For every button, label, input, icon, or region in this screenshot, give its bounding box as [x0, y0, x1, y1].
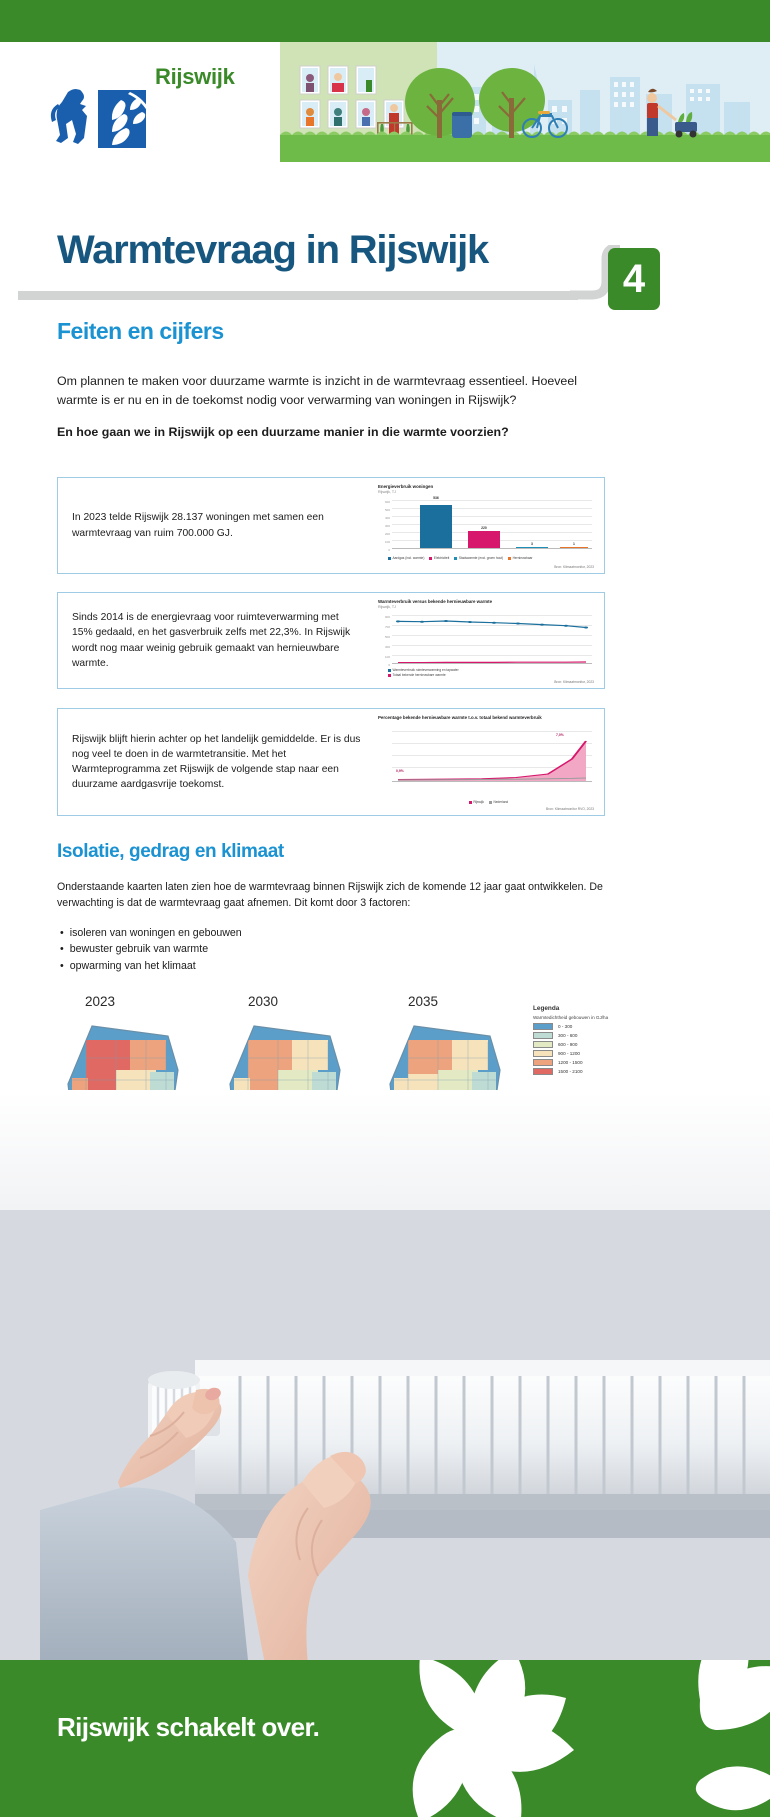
chart1-legend: Aardgas (incl. warmte)ElektriciteitStads… [388, 556, 594, 561]
legend-label-3: 900 - 1200 [558, 1051, 580, 1056]
chart1-legend-label-1: Elektriciteit [434, 556, 449, 560]
chart3-legend-swatch-1 [489, 801, 492, 804]
chart2-subtitle: Rijswijk, TJ [378, 605, 596, 609]
chart3-title: Percentage bekende hernieuwbare warmte t… [378, 715, 596, 721]
header-band: Rijswijk [0, 42, 770, 162]
chart3-source: Bron: Klimaatmonitor RVO, 2023 [546, 807, 594, 811]
legend-swatch-4 [533, 1059, 553, 1067]
fact-box-1: In 2023 telde Rijswijk 28.137 woningen m… [57, 477, 605, 574]
legend-subtitle: Warmtedichtheid gebouwen in GJ/ha [533, 1015, 645, 1020]
legend-title: Legenda [533, 1005, 645, 1012]
chart1-legend-label-2: Stadswarmte (excl. groen hout) [459, 556, 503, 560]
chart3-annotation-end: 7,0% [556, 733, 564, 737]
chart2-ytick-4: 500 [385, 635, 390, 639]
fact-text-1: In 2023 telde Rijswijk 28.137 woningen m… [58, 478, 376, 573]
chart1-legend-swatch-3 [508, 557, 511, 560]
legend-row-0: 0 - 300 [533, 1022, 645, 1031]
legend-swatch-0 [533, 1023, 553, 1031]
chart3-legend-swatch-0 [469, 801, 472, 804]
section2-body: Onderstaande kaarten laten zien hoe de w… [57, 880, 657, 912]
rijswijk-coat-of-arms-icon [38, 82, 168, 160]
legend-label-2: 600 - 900 [558, 1042, 577, 1047]
city-illustration [280, 42, 770, 162]
chart2-legend: Warmteverbruik ruimteverwarming en tapwa… [388, 668, 594, 678]
map-year-label-2035: 2035 [408, 994, 438, 1009]
legend-label-5: 1500 - 2100 [558, 1069, 583, 1074]
chart1-ytick-4: 200 [385, 532, 390, 536]
legend-swatch-5 [533, 1068, 553, 1076]
map-year-label-2030: 2030 [248, 994, 278, 1009]
chart3-annotation-start: 0,9% [396, 769, 404, 773]
legend-row-2: 600 - 900 [533, 1040, 645, 1049]
chart1-ytick-3: 300 [385, 524, 390, 528]
chart1-subtitle: Rijswijk, TJ [378, 490, 596, 494]
logo-zone: Rijswijk [0, 42, 280, 162]
section-title-feiten: Feiten en cijfers [57, 318, 224, 345]
legend-label-4: 1200 - 1500 [558, 1060, 583, 1065]
chart2-ytick-6: 300 [385, 645, 390, 649]
chart1-bar-elektriciteit [468, 531, 500, 548]
chart1-legend-swatch-0 [388, 557, 391, 560]
legend-swatch-3 [533, 1050, 553, 1058]
page-number-badge: 4 [608, 248, 660, 310]
chart1-label-aardgas: 536 [420, 496, 452, 500]
chart1-label-stadswarmte: 3 [516, 542, 548, 546]
fact-box-2: Sinds 2014 is de energievraag voor ruimt… [57, 592, 605, 689]
chart2-legend-label-1: Totaal bekende hernieuwbare warmte [393, 673, 446, 677]
poster-root: Rijswijk [0, 0, 770, 1817]
top-green-bar [0, 0, 770, 42]
title-rule [18, 291, 578, 300]
chart2-source: Bron: Klimaatmonitor, 2023 [554, 680, 594, 684]
chart-percentage-hernieuwbare-warmte: Percentage bekende hernieuwbare warmte t… [376, 709, 604, 815]
radiator-thermostat-photo [0, 1090, 770, 1680]
chart1-bar-hernieuwbaar [560, 547, 588, 548]
chart2-ytick-2: 700 [385, 625, 390, 629]
chart1-bar-aardgas [420, 505, 452, 548]
legend-label-0: 0 - 300 [558, 1024, 572, 1029]
chart2-legend-swatch-1 [388, 674, 391, 677]
map-year-label-2023: 2023 [85, 994, 115, 1009]
chart1-source: Bron: Klimaatmonitor, 2023 [554, 565, 594, 569]
fact-box-3: Rijswijk blijft hierin achter op het lan… [57, 708, 605, 816]
chart1-legend-label-0: Aardgas (incl. warmte) [393, 556, 425, 560]
chart1-legend-swatch-2 [454, 557, 457, 560]
intro-paragraph-2: En hoe gaan we in Rijswijk op een duurza… [57, 423, 602, 442]
intro-text: Om plannen te maken voor duurzame warmte… [57, 372, 602, 442]
chart1-ytick-1: 500 [385, 508, 390, 512]
legend-label-1: 300 - 600 [558, 1033, 577, 1038]
fact-text-2: Sinds 2014 is de energievraag voor ruimt… [58, 593, 376, 688]
chart1-label-elektriciteit: 220 [468, 526, 500, 530]
chart1-legend-label-3: Hernieuwbaar [513, 556, 533, 560]
chart2-ytick-0: 900 [385, 615, 390, 619]
legend-row-5: 1500 - 2100 [533, 1067, 645, 1076]
chart-warmteverbruik-vs-hernieuwbaar: Warmteverbruik versus bekende hernieuwba… [376, 593, 604, 688]
chart1-ytick-6: 0 [388, 548, 390, 552]
chart2-ytick-9: 0 [388, 663, 390, 667]
chart2-lines [392, 615, 592, 663]
footer-slogan: Rijswijk schakelt over. [57, 1712, 319, 1743]
legend-row-4: 1200 - 1500 [533, 1058, 645, 1067]
legend-row-3: 900 - 1200 [533, 1049, 645, 1058]
section-title-isolatie: Isolatie, gedrag en klimaat [57, 841, 284, 863]
fact-text-3: Rijswijk blijft hierin achter op het lan… [58, 709, 376, 815]
legend-swatch-2 [533, 1041, 553, 1049]
chart1-legend-swatch-1 [429, 557, 432, 560]
page-title: Warmtevraag in Rijswijk [57, 230, 488, 270]
chart3-area [392, 731, 592, 781]
chart1-bar-stadswarmte [516, 547, 548, 548]
chart3-legend: RijswijkNederland [388, 800, 594, 805]
chart2-ytick-8: 100 [385, 655, 390, 659]
chart3-legend-label-0: Rijswijk [473, 800, 484, 804]
footer: Rijswijk schakelt over. [0, 1660, 770, 1817]
chart1-ytick-5: 100 [385, 540, 390, 544]
legend-swatch-1 [533, 1032, 553, 1040]
legend-row-1: 300 - 600 [533, 1031, 645, 1040]
chart1-ytick-0: 600 [385, 500, 390, 504]
intro-paragraph-1: Om plannen te maken voor duurzame warmte… [57, 372, 602, 409]
bullet-item-1: isoleren van woningen en gebouwen [60, 925, 242, 941]
bullet-item-2: bewuster gebruik van warmte [60, 941, 242, 957]
map-legend: Legenda Warmtedichtheid gebouwen in GJ/h… [533, 1005, 645, 1076]
chart-energieverbruik-woningen: Energieverbruik woningen Rijswijk, TJ 60… [376, 478, 604, 573]
chart1-ytick-2: 400 [385, 516, 390, 520]
chart3-legend-label-1: Nederland [493, 800, 508, 804]
chart2-legend-label-0: Warmteverbruik ruimteverwarming en tapwa… [393, 668, 459, 672]
chart1-label-hernieuwbaar: 1 [560, 542, 588, 546]
chart2-legend-swatch-0 [388, 669, 391, 672]
bullet-item-3: opwarming van het klimaat [60, 958, 242, 974]
section2-bullet-list: isoleren van woningen en gebouwen bewust… [60, 925, 242, 974]
